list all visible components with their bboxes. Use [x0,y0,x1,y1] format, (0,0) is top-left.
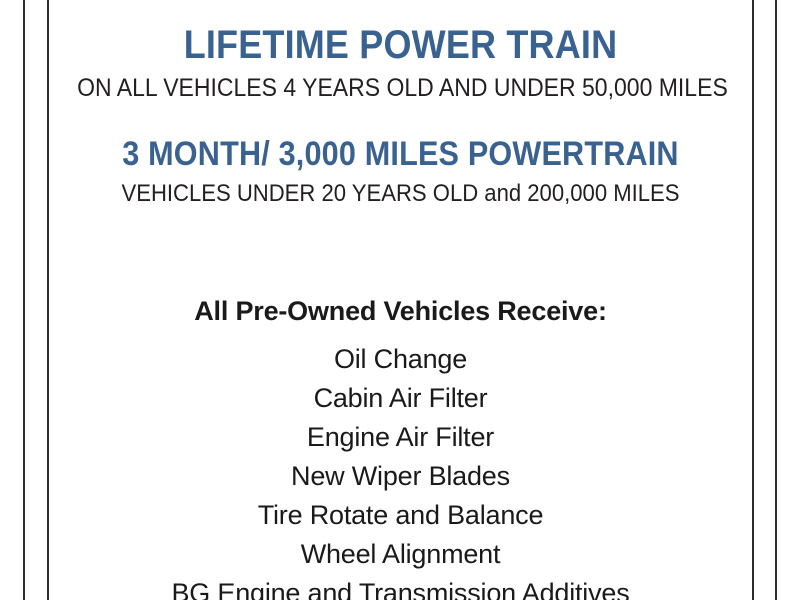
warranty-subline-lifetime: ON ALL VEHICLES 4 YEARS OLD AND UNDER 50… [77,76,724,101]
warranty-block-three-month: 3 MONTH/ 3,000 MILES POWERTRAIN VEHICLES… [49,137,752,206]
service-list-item: BG Engine and Transmission Additives [49,574,752,600]
services-list: Oil ChangeCabin Air FilterEngine Air Fil… [49,340,752,600]
border-rule-right-inner [752,0,754,600]
services-block: All Pre-Owned Vehicles Receive: Oil Chan… [49,298,752,600]
service-list-item: Tire Rotate and Balance [49,496,752,535]
warranty-headline-lifetime: LIFETIME POWER TRAIN [84,25,717,65]
service-list-item: Engine Air Filter [49,418,752,457]
warranty-subline-three-month: VEHICLES UNDER 20 YEARS OLD and 200,000 … [77,182,724,206]
services-heading: All Pre-Owned Vehicles Receive: [49,298,752,325]
warranty-headline-three-month: 3 MONTH/ 3,000 MILES POWERTRAIN [84,137,717,171]
service-list-item: Cabin Air Filter [49,379,752,418]
flyer-canvas: LIFETIME POWER TRAIN ON ALL VEHICLES 4 Y… [0,0,800,600]
border-rule-left-outer [23,0,25,600]
border-rule-right-outer [775,0,777,600]
service-list-item: Oil Change [49,340,752,379]
warranty-block-lifetime: LIFETIME POWER TRAIN ON ALL VEHICLES 4 Y… [49,25,752,101]
service-list-item: Wheel Alignment [49,535,752,574]
service-list-item: New Wiper Blades [49,457,752,496]
flyer-content: LIFETIME POWER TRAIN ON ALL VEHICLES 4 Y… [49,0,752,600]
